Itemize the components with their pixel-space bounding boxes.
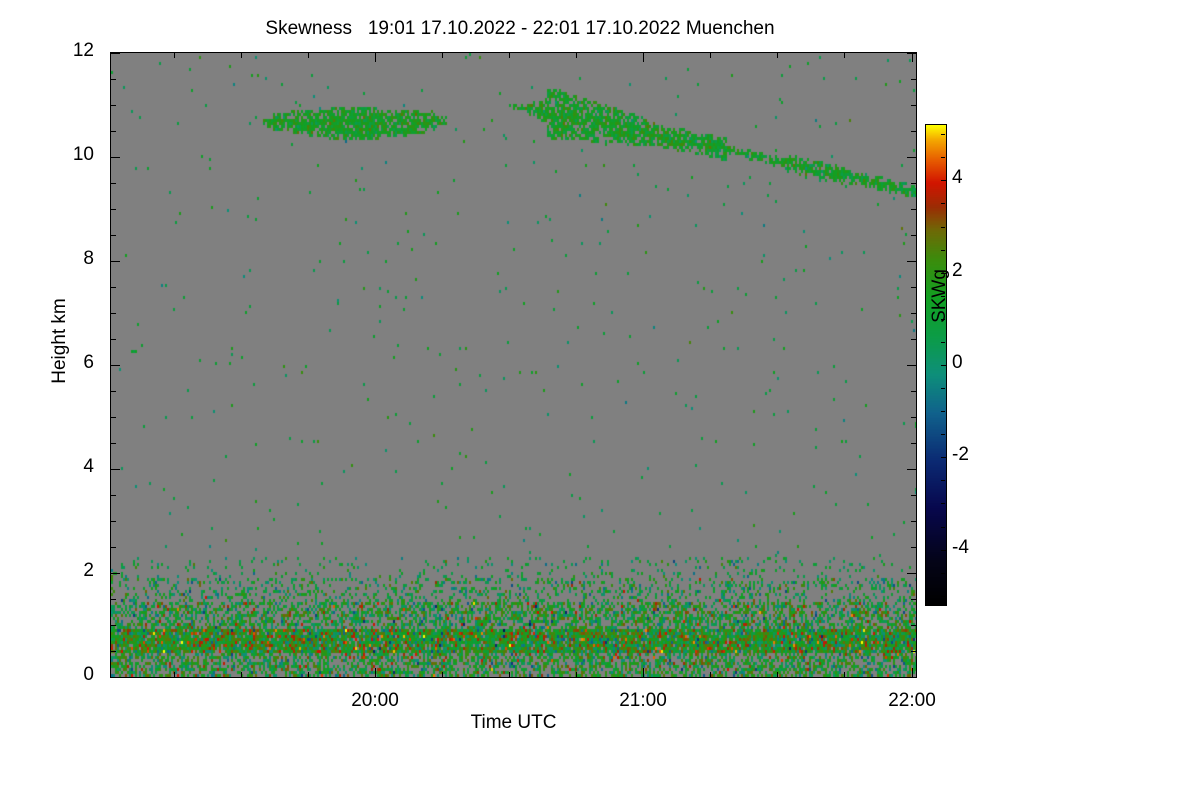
colorbar-tick-minor: [941, 203, 945, 204]
y-tick-major: [907, 573, 916, 574]
x-tick-minor: [174, 672, 175, 677]
y-tick-label: 2: [22, 560, 94, 582]
y-tick-major: [111, 677, 120, 678]
colorbar-tick: [941, 550, 947, 551]
colorbar-tick-label: 0: [952, 352, 963, 374]
y-tick-minor: [911, 391, 916, 392]
x-tick-minor: [241, 53, 242, 58]
x-tick-label: 22:00: [862, 690, 962, 712]
y-tick-minor: [111, 495, 116, 496]
y-tick-label: 8: [22, 248, 94, 270]
heatmap-canvas: [111, 53, 916, 677]
y-tick-minor: [111, 651, 116, 652]
x-tick-major: [643, 53, 644, 62]
y-tick-minor: [911, 79, 916, 80]
y-tick-minor: [111, 313, 116, 314]
x-tick-minor: [308, 53, 309, 58]
y-tick-minor: [911, 495, 916, 496]
x-tick-minor: [576, 53, 577, 58]
y-tick-major: [907, 365, 916, 366]
plot-area: [110, 52, 917, 678]
y-tick-major: [907, 261, 916, 262]
x-tick-minor: [576, 672, 577, 677]
x-tick-minor: [509, 53, 510, 58]
colorbar-tick-minor: [941, 527, 945, 528]
y-tick-minor: [911, 235, 916, 236]
y-tick-major: [907, 157, 916, 158]
x-tick-major: [912, 668, 913, 677]
y-tick-major: [907, 469, 916, 470]
y-tick-label: 6: [22, 352, 94, 374]
x-tick-label: 21:00: [593, 690, 693, 712]
x-tick-major: [643, 668, 644, 677]
x-tick-major: [375, 668, 376, 677]
y-tick-major: [111, 365, 120, 366]
y-tick-minor: [911, 625, 916, 626]
x-tick-minor: [509, 672, 510, 677]
colorbar-tick-minor: [941, 573, 945, 574]
y-tick-minor: [111, 339, 116, 340]
x-tick-minor: [777, 53, 778, 58]
colorbar-tick-minor: [941, 134, 945, 135]
colorbar-tick-minor: [941, 157, 945, 158]
x-tick-minor: [710, 672, 711, 677]
y-tick-minor: [911, 599, 916, 600]
x-tick-label: 20:00: [325, 690, 425, 712]
y-tick-minor: [911, 417, 916, 418]
y-tick-minor: [911, 313, 916, 314]
colorbar-tick: [941, 273, 947, 274]
y-tick-minor: [111, 547, 116, 548]
colorbar-tick-label: 2: [952, 260, 963, 282]
y-tick-minor: [111, 105, 116, 106]
x-tick-minor: [442, 672, 443, 677]
y-axis-title: Height km: [49, 241, 71, 441]
x-tick-minor: [442, 53, 443, 58]
y-tick-label: 4: [22, 456, 94, 478]
colorbar-tick-minor: [941, 434, 945, 435]
x-tick-minor: [777, 672, 778, 677]
colorbar-tick: [941, 457, 947, 458]
y-tick-major: [111, 157, 120, 158]
x-tick-minor: [174, 53, 175, 58]
x-axis-title: Time UTC: [110, 712, 917, 734]
y-tick-minor: [111, 183, 116, 184]
colorbar-tick-minor: [941, 227, 945, 228]
colorbar-tick-label: -4: [952, 537, 969, 559]
y-tick-minor: [911, 651, 916, 652]
y-tick-minor: [111, 625, 116, 626]
y-tick-minor: [911, 183, 916, 184]
x-tick-minor: [844, 672, 845, 677]
y-tick-minor: [911, 131, 916, 132]
colorbar-tick: [941, 180, 947, 181]
colorbar-tick-minor: [941, 319, 945, 320]
colorbar-tick-minor: [941, 296, 945, 297]
y-tick-minor: [111, 521, 116, 522]
colorbar-title: SKWg: [929, 216, 951, 376]
y-tick-label: 0: [22, 664, 94, 686]
colorbar-tick-minor: [941, 480, 945, 481]
colorbar-tick-minor: [941, 503, 945, 504]
y-tick-label: 10: [22, 144, 94, 166]
colorbar-tick-label: -2: [952, 444, 969, 466]
y-tick-minor: [911, 209, 916, 210]
y-tick-minor: [111, 131, 116, 132]
x-tick-minor: [844, 53, 845, 58]
y-tick-minor: [911, 521, 916, 522]
colorbar-tick-label: 4: [952, 167, 963, 189]
colorbar-tick-minor: [941, 411, 945, 412]
y-tick-major: [111, 469, 120, 470]
y-tick-minor: [111, 209, 116, 210]
x-tick-minor: [308, 672, 309, 677]
x-tick-minor: [241, 672, 242, 677]
y-tick-minor: [911, 339, 916, 340]
colorbar-tick-minor: [941, 250, 945, 251]
colorbar-tick-minor: [941, 388, 945, 389]
colorbar-tick-minor: [941, 342, 945, 343]
y-tick-minor: [111, 79, 116, 80]
y-tick-major: [907, 677, 916, 678]
y-tick-minor: [911, 547, 916, 548]
x-tick-minor: [710, 53, 711, 58]
y-tick-major: [111, 261, 120, 262]
x-tick-major: [375, 53, 376, 62]
y-tick-minor: [111, 391, 116, 392]
y-tick-minor: [111, 599, 116, 600]
colorbar-tick-minor: [941, 596, 945, 597]
colorbar-tick: [941, 365, 947, 366]
y-tick-minor: [911, 443, 916, 444]
y-tick-major: [111, 573, 120, 574]
skewness-heatmap-plot: Skewness 19:01 17.10.2022 - 22:01 17.10.…: [0, 0, 1200, 800]
y-tick-label: 12: [22, 40, 94, 62]
x-tick-major: [912, 53, 913, 62]
y-tick-minor: [111, 417, 116, 418]
y-tick-minor: [111, 443, 116, 444]
y-tick-minor: [111, 287, 116, 288]
y-tick-minor: [111, 235, 116, 236]
page-title: Skewness 19:01 17.10.2022 - 22:01 17.10.…: [0, 18, 1040, 40]
y-tick-minor: [911, 105, 916, 106]
y-tick-major: [111, 53, 120, 54]
y-tick-minor: [911, 287, 916, 288]
